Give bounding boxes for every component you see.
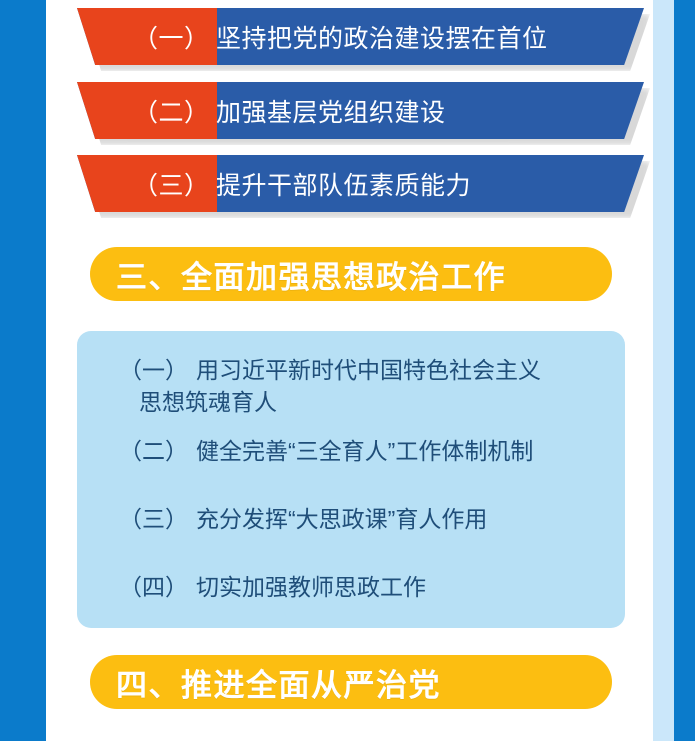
card-item-number-1: （一） bbox=[119, 354, 196, 386]
left-edge-bar bbox=[0, 0, 46, 741]
section-heading-three[interactable]: 三、全面加强思想政治工作 bbox=[90, 247, 612, 301]
banner-title-1: 坚持把党的政治建设摆在首位 bbox=[216, 19, 548, 55]
card-list-item-3[interactable]: （三）充分发挥“大思政课”育人作用 bbox=[119, 503, 607, 535]
right-edge-blue-bar bbox=[674, 0, 695, 741]
card-list-item-1[interactable]: （一）用习近平新时代中国特色社会主义 思想筑魂育人 bbox=[119, 354, 607, 418]
card-item-number-3: （三） bbox=[119, 503, 196, 535]
card-item-number-4: （四） bbox=[119, 571, 196, 603]
banner-title-2: 加强基层党组织建设 bbox=[216, 93, 446, 129]
content-column: （一） 坚持把党的政治建设摆在首位 （二） 加强基层党组织建设 （三） bbox=[46, 0, 653, 741]
card-item-text-4: 切实加强教师思政工作 bbox=[196, 571, 426, 603]
banner-text-1: （一） 坚持把党的政治建设摆在首位 bbox=[77, 8, 644, 65]
card-item-text-2: 健全完善“三全育人”工作体制机制 bbox=[196, 435, 533, 467]
card-item-number-2: （二） bbox=[119, 435, 196, 467]
card-item-text-3: 充分发挥“大思政课”育人作用 bbox=[196, 503, 487, 535]
banner-text-3: （三） 提升干部队伍素质能力 bbox=[77, 155, 644, 212]
card-list-item-4[interactable]: （四）切实加强教师思政工作 bbox=[119, 571, 607, 603]
banner-number-2: （二） bbox=[133, 93, 216, 129]
section-three-card: （一）用习近平新时代中国特色社会主义 思想筑魂育人 （二）健全完善“三全育人”工… bbox=[77, 331, 625, 628]
arrow-banner-3[interactable]: （三） 提升干部队伍素质能力 bbox=[77, 155, 644, 212]
infographic-page: （一） 坚持把党的政治建设摆在首位 （二） 加强基层党组织建设 （三） bbox=[0, 0, 695, 741]
banner-title-3: 提升干部队伍素质能力 bbox=[216, 166, 471, 202]
right-edge-pale-bar bbox=[653, 0, 674, 741]
card-item-text-1: 用习近平新时代中国特色社会主义 bbox=[196, 354, 541, 386]
arrow-banner-1[interactable]: （一） 坚持把党的政治建设摆在首位 bbox=[77, 8, 644, 65]
section-heading-four-label: 四、推进全面从严治党 bbox=[116, 660, 441, 705]
banner-text-2: （二） 加强基层党组织建设 bbox=[77, 82, 644, 139]
card-item-text-1-line2: 思想筑魂育人 bbox=[119, 386, 607, 418]
card-list-item-2[interactable]: （二）健全完善“三全育人”工作体制机制 bbox=[119, 435, 607, 467]
banner-number-3: （三） bbox=[133, 166, 216, 202]
arrow-banner-2[interactable]: （二） 加强基层党组织建设 bbox=[77, 82, 644, 139]
section-heading-four[interactable]: 四、推进全面从严治党 bbox=[90, 655, 612, 709]
section-heading-three-label: 三、全面加强思想政治工作 bbox=[116, 252, 506, 297]
banner-number-1: （一） bbox=[133, 19, 216, 55]
